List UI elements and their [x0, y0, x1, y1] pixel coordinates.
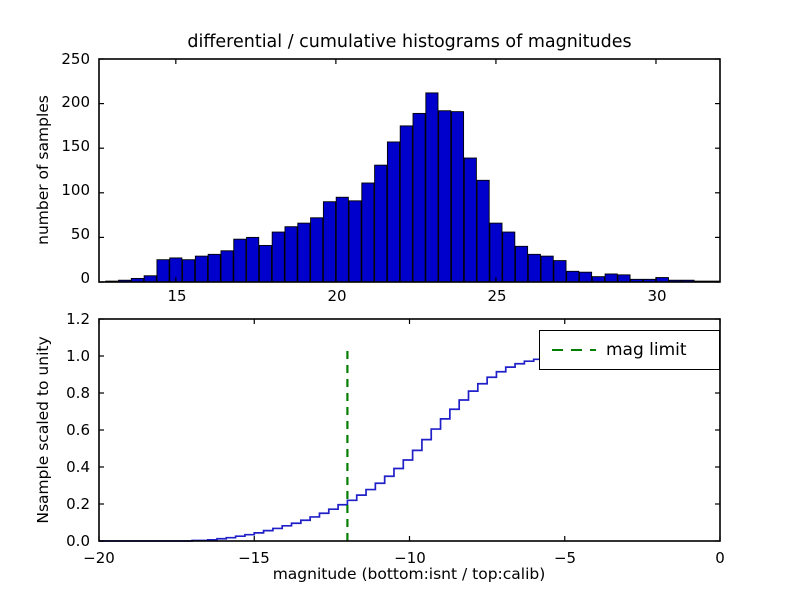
bottom-xtick-m20: −20 [83, 549, 115, 567]
histogram-bar [528, 254, 540, 282]
histogram-bar [644, 279, 656, 282]
histogram-bar [554, 261, 566, 282]
histogram-bar [323, 202, 335, 282]
top-axes-frame [99, 59, 720, 282]
histogram-bar [464, 158, 476, 282]
plot-title: differential / cumulative histograms of … [99, 32, 720, 52]
histogram-bar [311, 218, 323, 282]
histogram-bar [144, 276, 156, 282]
histogram-bar [413, 113, 425, 282]
histogram-bar [503, 232, 515, 282]
histogram-bar [272, 232, 284, 282]
bottom-ytick-1.2: 1.2 [39, 310, 90, 328]
top-ytick-100: 100 [39, 181, 90, 199]
histogram-bar [259, 245, 271, 282]
legend[interactable]: mag limit [539, 330, 720, 370]
histogram-bar [439, 111, 451, 282]
top-xtick-15: 15 [167, 287, 186, 305]
histogram-bar [451, 112, 463, 282]
histogram-bar [247, 237, 259, 282]
histogram-bar [285, 227, 297, 282]
histogram-bar [605, 274, 617, 282]
top-ytick-250: 250 [39, 50, 90, 68]
top-ytick-200: 200 [39, 93, 90, 111]
histogram-bar [541, 256, 553, 282]
histogram-bar [183, 260, 195, 282]
bottom-ytick-0.0: 0.0 [39, 532, 90, 550]
histogram-bar [106, 281, 118, 282]
histogram-bar [708, 281, 720, 282]
bottom-ytick-0.4: 0.4 [39, 458, 90, 476]
top-xtick-25: 25 [487, 287, 506, 305]
legend-dash-swatch [552, 349, 596, 351]
histogram-bars [106, 93, 720, 282]
histogram-bar [592, 277, 604, 282]
bottom-axes-plot-area [0, 0, 800, 600]
histogram-bar [656, 278, 668, 282]
top-axes-ylabel: number of samples [34, 95, 52, 245]
bottom-xtick-0: 0 [715, 549, 725, 567]
top-xtick-30: 30 [647, 287, 666, 305]
top-ytick-50: 50 [39, 225, 90, 243]
bottom-xtick-m10: −10 [394, 549, 426, 567]
bottom-ytick-0.6: 0.6 [39, 421, 90, 439]
top-ytick-150: 150 [39, 137, 90, 155]
top-xtick-20: 20 [327, 287, 346, 305]
histogram-bar [682, 280, 694, 282]
cumulative-step-path [99, 356, 720, 541]
histogram-bar [515, 246, 527, 282]
histogram-bar [349, 201, 361, 282]
bottom-xtick-m5: −5 [554, 549, 576, 567]
histogram-bar [631, 279, 643, 282]
histogram-bar [362, 183, 374, 282]
histogram-bar [221, 251, 233, 282]
bottom-ytick-0.8: 0.8 [39, 384, 90, 402]
bottom-ytick-1.0: 1.0 [39, 347, 90, 365]
histogram-bar [131, 278, 143, 282]
histogram-bar [119, 280, 131, 282]
histogram-bar [170, 258, 182, 282]
histogram-bar [490, 223, 502, 282]
histogram-bar [426, 93, 438, 282]
histogram-bar [477, 180, 489, 282]
bottom-ytick-0.2: 0.2 [39, 495, 90, 513]
histogram-bar [375, 165, 387, 282]
histogram-bar [400, 126, 412, 282]
legend-label-mag-limit: mag limit [606, 340, 701, 360]
histogram-bar [618, 275, 630, 282]
histogram-bar [567, 271, 579, 282]
histogram-bar [336, 197, 348, 282]
bottom-xtick-m15: −15 [238, 549, 270, 567]
histogram-bar [579, 272, 591, 282]
top-axes-plot-area [0, 0, 800, 600]
cumulative-curve [99, 356, 720, 541]
histogram-bar [234, 239, 246, 282]
histogram-bar [208, 254, 220, 282]
histogram-bar [387, 142, 399, 282]
bottom-axes-xlabel: magnitude (bottom:isnt / top:calib) [273, 565, 546, 583]
figure-canvas: differential / cumulative histograms of … [0, 0, 800, 600]
histogram-bar [157, 260, 169, 282]
histogram-bar [669, 280, 681, 282]
histogram-bar [695, 281, 707, 282]
histogram-bar [298, 223, 310, 282]
histogram-bar [195, 256, 207, 282]
top-ytick-0: 0 [39, 269, 90, 287]
